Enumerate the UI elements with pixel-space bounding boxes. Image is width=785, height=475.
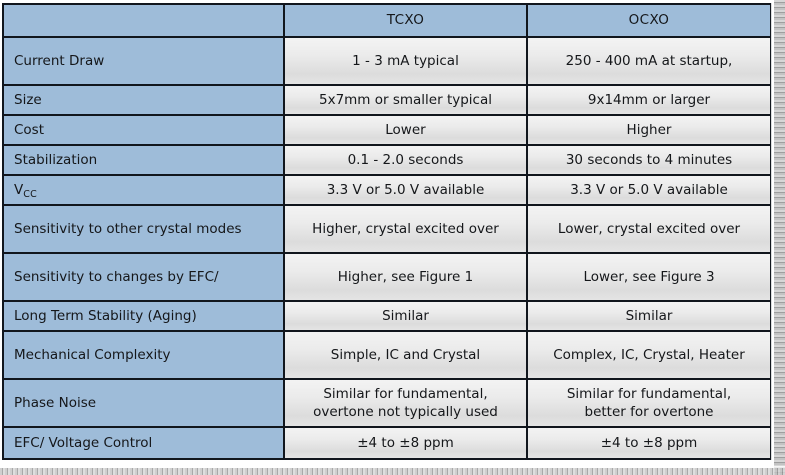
cell-tcxo-phase-noise-line-1: Similar for fundamental, [295, 385, 516, 403]
table-body: Current Draw 1 - 3 mA typical 250 - 400 … [3, 37, 771, 459]
row-label-current-draw: Current Draw [3, 37, 284, 85]
cell-ocxo-phase-noise-line-2: better for overtone [538, 403, 760, 421]
cell-tcxo-phase-noise-line-2: overtone not typically used [295, 403, 516, 421]
table-row: Phase Noise Similar for fundamental, ove… [3, 379, 771, 427]
table-row: EFC/ Voltage Control ±4 to ±8 ppm ±4 to … [3, 427, 771, 459]
table-row: Sensitivity to changes by EFC/ Higher, s… [3, 253, 771, 301]
row-label-long-term-stability: Long Term Stability (Aging) [3, 301, 284, 331]
cell-ocxo-sensitivity-efc: Lower, see Figure 3 [527, 253, 771, 301]
comparison-table: TCXO OCXO Current Draw 1 - 3 mA typical … [2, 3, 772, 460]
table-header: TCXO OCXO [3, 4, 771, 37]
row-label-vcc: VCC [3, 175, 284, 205]
table-header-row: TCXO OCXO [3, 4, 771, 37]
table-row: Size 5x7mm or smaller typical 9x14mm or … [3, 85, 771, 115]
page-edge-texture-bottom [0, 466, 785, 475]
vcc-base: V [14, 182, 23, 198]
cell-tcxo-sensitivity-efc: Higher, see Figure 1 [284, 253, 527, 301]
row-label-mechanical-complexity: Mechanical Complexity [3, 331, 284, 379]
cell-ocxo-cost: Higher [527, 115, 771, 145]
row-label-efc-voltage-control: EFC/ Voltage Control [3, 427, 284, 459]
page-edge-texture-right [771, 0, 785, 475]
cell-tcxo-vcc: 3.3 V or 5.0 V available [284, 175, 527, 205]
row-label-phase-noise: Phase Noise [3, 379, 284, 427]
table-row: Long Term Stability (Aging) Similar Simi… [3, 301, 771, 331]
row-label-size: Size [3, 85, 284, 115]
cell-tcxo-cost: Lower [284, 115, 527, 145]
cell-tcxo-long-term-stability: Similar [284, 301, 527, 331]
header-cell-ocxo: OCXO [527, 4, 771, 37]
header-cell-attribute [3, 4, 284, 37]
cell-ocxo-phase-noise: Similar for fundamental, better for over… [527, 379, 771, 427]
cell-tcxo-sensitivity-crystal-modes: Higher, crystal excited over [284, 205, 527, 253]
table-row: Stabilization 0.1 - 2.0 seconds 30 secon… [3, 145, 771, 175]
cell-ocxo-stabilization: 30 seconds to 4 minutes [527, 145, 771, 175]
table-row: Mechanical Complexity Simple, IC and Cry… [3, 331, 771, 379]
row-label-sensitivity-crystal-modes: Sensitivity to other crystal modes [3, 205, 284, 253]
cell-ocxo-size: 9x14mm or larger [527, 85, 771, 115]
header-cell-tcxo: TCXO [284, 4, 527, 37]
cell-ocxo-sensitivity-crystal-modes: Lower, crystal excited over [527, 205, 771, 253]
cell-ocxo-efc-voltage-control: ±4 to ±8 ppm [527, 427, 771, 459]
cell-ocxo-long-term-stability: Similar [527, 301, 771, 331]
table-row: VCC 3.3 V or 5.0 V available 3.3 V or 5.… [3, 175, 771, 205]
cell-tcxo-size: 5x7mm or smaller typical [284, 85, 527, 115]
table-row: Current Draw 1 - 3 mA typical 250 - 400 … [3, 37, 771, 85]
row-label-cost: Cost [3, 115, 284, 145]
cell-tcxo-current-draw: 1 - 3 mA typical [284, 37, 527, 85]
row-label-stabilization: Stabilization [3, 145, 284, 175]
vcc-subscript: CC [23, 189, 37, 200]
cell-tcxo-mechanical-complexity: Simple, IC and Crystal [284, 331, 527, 379]
cell-ocxo-mechanical-complexity: Complex, IC, Crystal, Heater [527, 331, 771, 379]
table-row: Sensitivity to other crystal modes Highe… [3, 205, 771, 253]
row-label-sensitivity-efc: Sensitivity to changes by EFC/ [3, 253, 284, 301]
cell-tcxo-efc-voltage-control: ±4 to ±8 ppm [284, 427, 527, 459]
table-row: Cost Lower Higher [3, 115, 771, 145]
cell-ocxo-vcc: 3.3 V or 5.0 V available [527, 175, 771, 205]
page-canvas: TCXO OCXO Current Draw 1 - 3 mA typical … [0, 0, 785, 475]
cell-ocxo-phase-noise-line-1: Similar for fundamental, [538, 385, 760, 403]
cell-tcxo-phase-noise: Similar for fundamental, overtone not ty… [284, 379, 527, 427]
cell-ocxo-current-draw: 250 - 400 mA at startup, [527, 37, 771, 85]
cell-tcxo-stabilization: 0.1 - 2.0 seconds [284, 145, 527, 175]
